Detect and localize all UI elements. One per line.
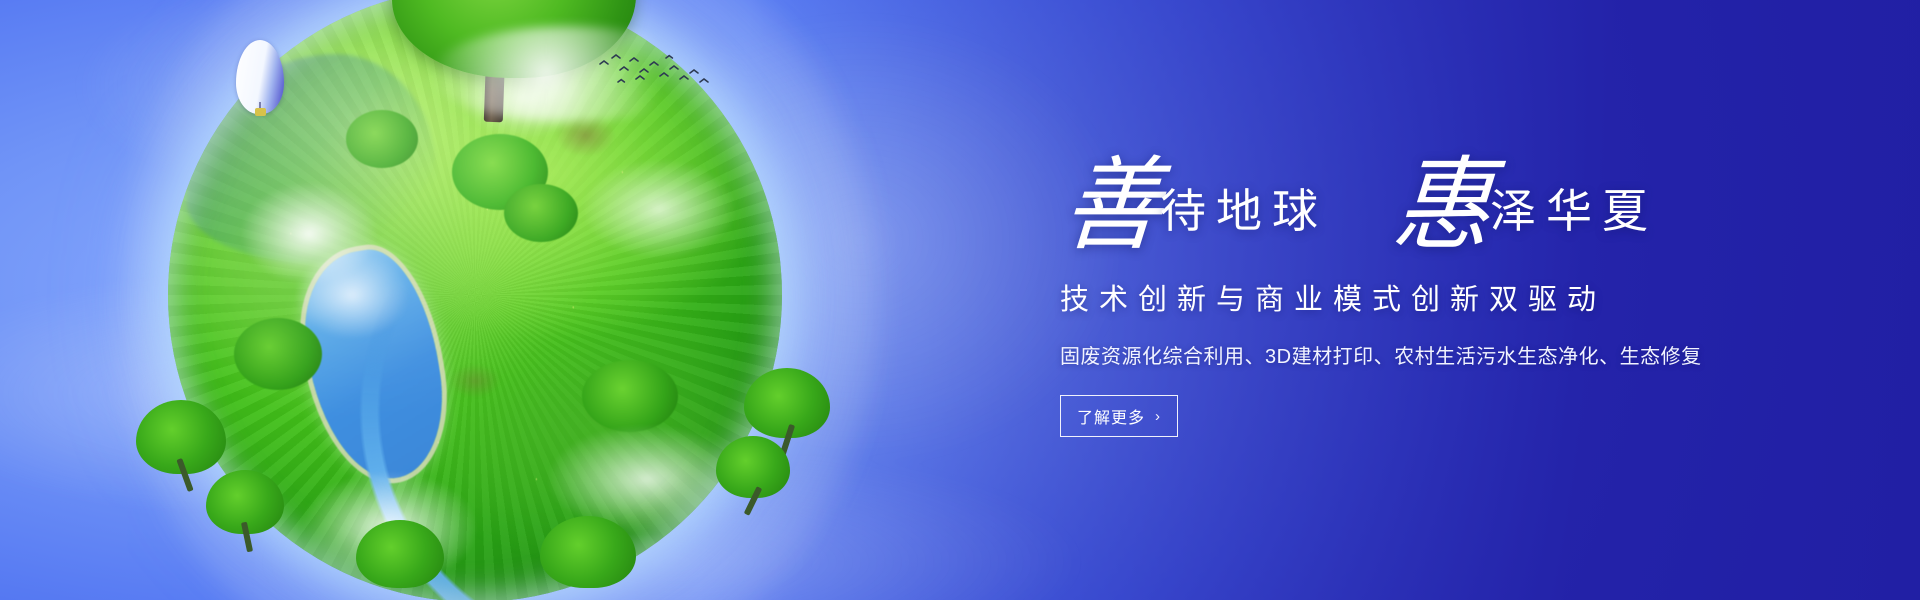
limb-tree-icon — [356, 520, 444, 588]
limb-tree-icon — [136, 400, 226, 474]
description-text: 固废资源化综合利用、3D建材打印、农村生活污水生态净化、生态修复 — [1060, 340, 1780, 369]
limb-tree-icon — [206, 470, 284, 534]
subtitle: 技术创新与商业模式创新双驱动 — [1060, 276, 1780, 318]
hero-copy: 善 待地球 惠 泽华夏 技术创新与商业模式创新双驱动 固废资源化综合利用、3D建… — [1060, 150, 1780, 437]
hero-banner: 善 待地球 惠 泽华夏 技术创新与商业模式创新双驱动 固废资源化综合利用、3D建… — [0, 0, 1920, 600]
limb-tree-icon — [716, 436, 790, 498]
headline-text-daidi: 待地球 — [1160, 188, 1328, 234]
learn-more-button[interactable]: 了解更多 › — [1060, 395, 1178, 437]
limb-tree-icon — [744, 368, 830, 438]
page-title: 善 待地球 惠 泽华夏 — [1060, 150, 1780, 246]
hot-air-balloon-icon — [236, 40, 284, 114]
limb-tree-icon — [540, 516, 636, 588]
globe-illustration — [0, 0, 980, 600]
bird-flock-icon — [596, 52, 716, 88]
headline-char-hui: 惠 — [1390, 154, 1495, 256]
headline-char-shan: 善 — [1060, 154, 1165, 256]
learn-more-label: 了解更多 — [1077, 404, 1145, 428]
headline-text-zehua: 泽华夏 — [1490, 188, 1658, 234]
chevron-right-icon: › — [1155, 409, 1161, 424]
